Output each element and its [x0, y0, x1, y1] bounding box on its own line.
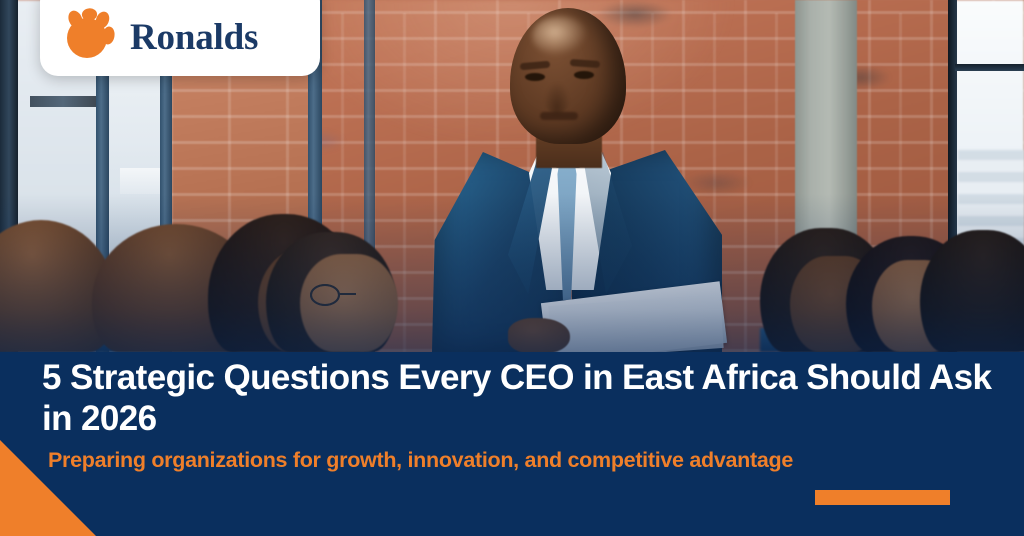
page-subtitle: Preparing organizations for growth, inno…: [48, 448, 1008, 474]
brand-logo-card[interactable]: Ronalds: [40, 0, 320, 76]
orange-accent-bar: [815, 490, 950, 505]
paw-flower-logo-icon: [62, 7, 116, 61]
page-title: 5 Strategic Questions Every CEO in East …: [42, 358, 992, 440]
marketing-banner: Ronalds 5 Strategic Questions Every CEO …: [0, 0, 1024, 536]
brand-wordmark: Ronalds: [130, 19, 258, 56]
headline-band: 5 Strategic Questions Every CEO in East …: [0, 352, 1024, 536]
